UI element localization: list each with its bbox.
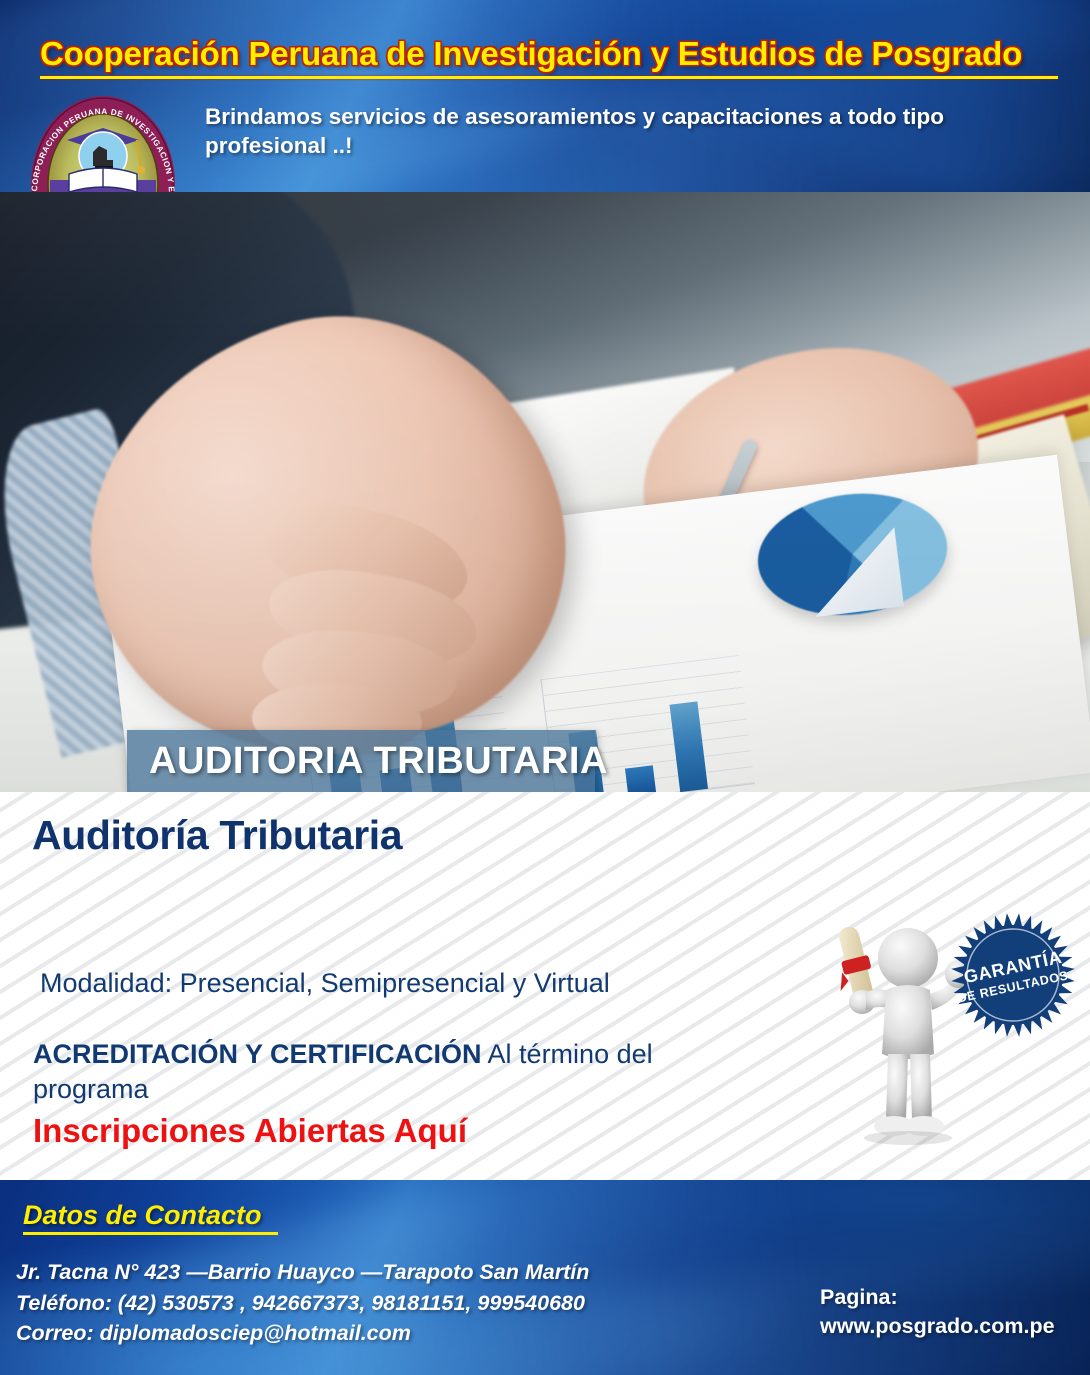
contact-email[interactable]: Correo: diplomadosciep@hotmail.com [16, 1318, 696, 1349]
hero-banner-label: AUDITORIA TRIBUTARIA [127, 740, 608, 783]
organization-title: Cooperación Peruana de Investigación y E… [40, 35, 1060, 73]
website-url[interactable]: www.posgrado.com.pe [820, 1312, 1055, 1341]
website-block: Pagina: www.posgrado.com.pe [820, 1283, 1055, 1341]
contact-phone[interactable]: Teléfono: (42) 530573 , 942667373, 98181… [16, 1288, 696, 1319]
contact-details: Jr. Tacna N° 423 —Barrio Huayco —Tarapot… [16, 1257, 696, 1349]
guarantee-seal: GARANTÍA DE RESULTADOS [948, 910, 1078, 1040]
contact-footer: Datos de Contacto Jr. Tacna N° 423 —Barr… [0, 1180, 1090, 1375]
photo-bar [625, 765, 656, 792]
contact-heading-underline [23, 1232, 278, 1235]
contact-address: Jr. Tacna N° 423 —Barrio Huayco —Tarapot… [16, 1257, 696, 1288]
hero-banner: AUDITORIA TRIBUTARIA [127, 730, 595, 792]
hero-photo: AUDITORIA TRIBUTARIA [0, 192, 1090, 792]
accreditation-line: ACREDITACIÓN Y CERTIFICACIÓN Al término … [33, 1037, 763, 1106]
website-label: Pagina: [820, 1283, 1055, 1312]
organization-title-underline [40, 76, 1058, 79]
modality-line: Modalidad: Presencial, Semipresencial y … [40, 968, 610, 999]
flyer-page: Cooperación Peruana de Investigación y E… [0, 0, 1090, 1375]
course-title: Auditoría Tributaria [32, 812, 402, 859]
ciep-logo: CORPORACION PERUANA DE INVESTIGACION Y E… [17, 88, 189, 192]
course-details-section: Auditoría Tributaria Modalidad: Presenci… [0, 792, 1090, 1180]
accreditation-label: ACREDITACIÓN Y CERTIFICACIÓN [33, 1039, 482, 1069]
organization-tagline: Brindamos servicios de asesoramientos y … [205, 103, 1070, 161]
header-band: Cooperación Peruana de Investigación y E… [0, 0, 1090, 192]
ciep-logo-graphic: CORPORACION PERUANA DE INVESTIGACION Y E… [17, 88, 189, 192]
enrollment-cta[interactable]: Inscripciones Abiertas Aquí [33, 1112, 467, 1150]
contact-heading: Datos de Contacto [23, 1200, 262, 1231]
photo-bar [670, 701, 709, 792]
